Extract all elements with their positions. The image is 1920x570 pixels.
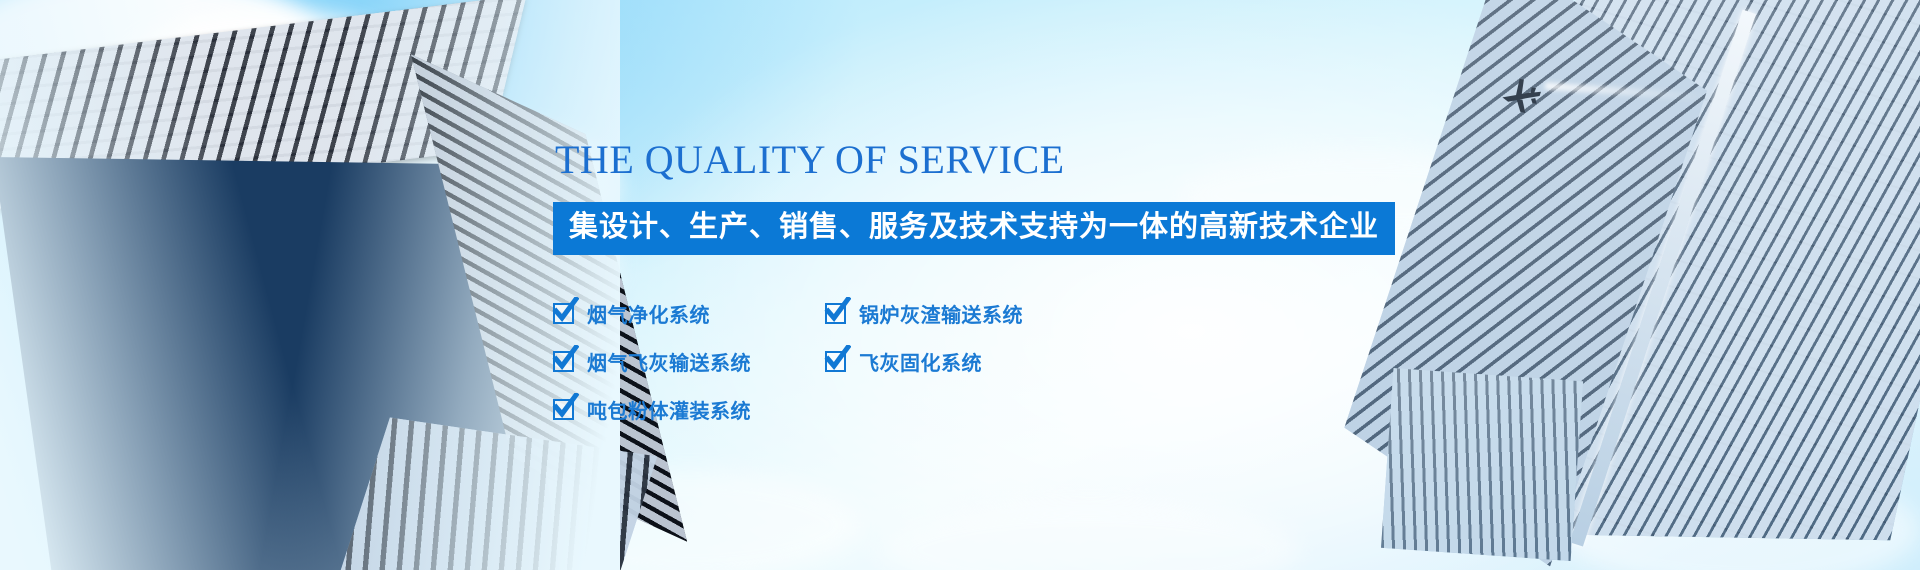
list-item[interactable]: 烟气净化系统 bbox=[553, 299, 825, 328]
cloud-shape bbox=[880, 500, 1300, 570]
banner-content: THE QUALITY OF SERVICE 集设计、生产、销售、服务及技术支持… bbox=[553, 140, 1453, 433]
checkbox-checked-icon bbox=[825, 303, 846, 324]
airplane-icon bbox=[1498, 76, 1544, 116]
list-item[interactable]: 飞灰固化系统 bbox=[825, 347, 1453, 376]
checkbox-checked-icon bbox=[553, 399, 574, 420]
list-item-label: 烟气飞灰输送系统 bbox=[587, 347, 751, 376]
list-item[interactable]: 锅炉灰渣输送系统 bbox=[825, 299, 1453, 328]
checkbox-checked-icon bbox=[825, 351, 846, 372]
page-title: THE QUALITY OF SERVICE bbox=[555, 140, 1453, 180]
list-item[interactable]: 吨包粉体灌装系统 bbox=[553, 395, 825, 424]
checkbox-checked-icon bbox=[553, 303, 574, 324]
list-item-label: 烟气净化系统 bbox=[587, 299, 710, 328]
checkbox-checked-icon bbox=[553, 351, 574, 372]
right-fade-mask bbox=[0, 0, 560, 570]
feature-list: 烟气净化系统 锅炉灰渣输送系统 烟气飞灰输送系统 bbox=[553, 289, 1453, 433]
list-item-label: 锅炉灰渣输送系统 bbox=[859, 299, 1023, 328]
hero-banner: THE QUALITY OF SERVICE 集设计、生产、销售、服务及技术支持… bbox=[0, 0, 1920, 570]
tagline-badge: 集设计、生产、销售、服务及技术支持为一体的高新技术企业 bbox=[553, 202, 1395, 255]
list-item-label: 飞灰固化系统 bbox=[859, 347, 982, 376]
list-item[interactable]: 烟气飞灰输送系统 bbox=[553, 347, 825, 376]
list-item-label: 吨包粉体灌装系统 bbox=[587, 395, 751, 424]
